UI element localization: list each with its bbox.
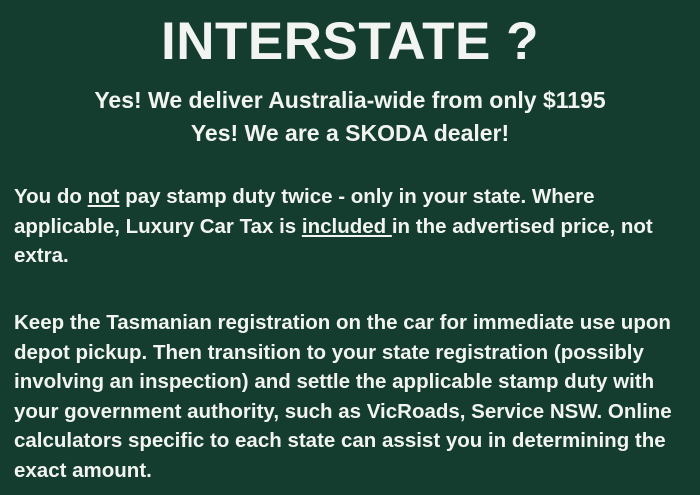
stamp-duty-paragraph: You do not pay stamp duty twice - only i…: [14, 182, 678, 271]
banner-headline: INTERSTATE ?: [0, 12, 700, 72]
registration-paragraph: Keep the Tasmanian registration on the c…: [14, 308, 678, 485]
stamp-duty-emphasis-included: included: [302, 215, 392, 238]
interstate-info-banner: INTERSTATE ? Yes! We deliver Australia-w…: [0, 0, 700, 495]
stamp-duty-text-part-1: You do: [14, 185, 88, 208]
banner-subheading-delivery: Yes! We deliver Australia-wide from only…: [0, 86, 700, 114]
registration-text: Keep the Tasmanian registration on the c…: [14, 311, 672, 482]
banner-subheading-dealer: Yes! We are a SKODA dealer!: [0, 119, 700, 147]
stamp-duty-emphasis-not: not: [88, 185, 120, 208]
